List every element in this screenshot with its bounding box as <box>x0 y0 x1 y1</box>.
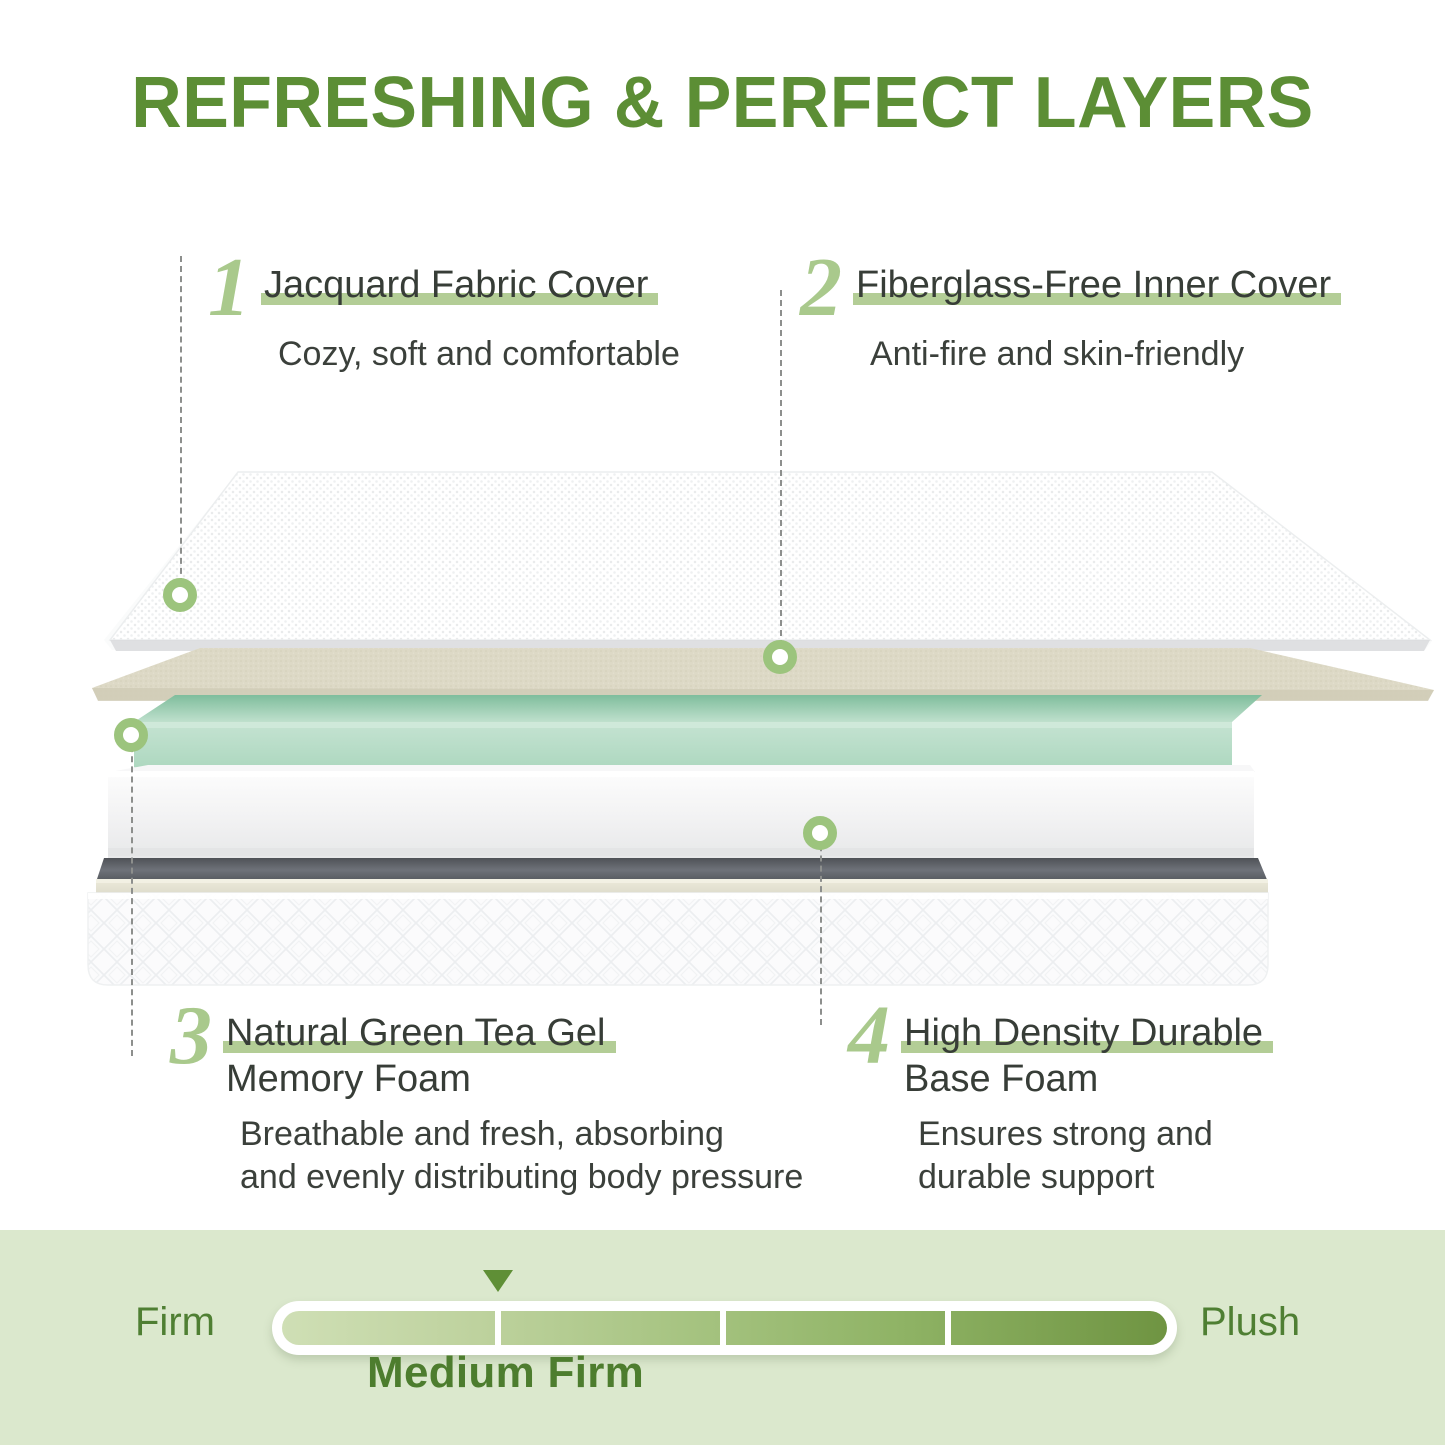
callout-4-description: Ensures strong and durable support <box>918 1113 1263 1200</box>
callout-3-title: Natural Green Tea Gel Memory Foam <box>226 1010 606 1103</box>
firmness-segment-divider-2 <box>720 1311 726 1345</box>
leader-line-1 <box>180 256 182 594</box>
leader-line-3 <box>131 736 133 1056</box>
firmness-marker-triangle-icon <box>483 1270 513 1292</box>
callout-3: 3 Natural Green Tea Gel Memory Foam Brea… <box>170 1000 803 1200</box>
callout-4: 4 High Density Durable Base Foam Ensures… <box>848 1000 1263 1200</box>
callout-marker-4 <box>803 816 837 850</box>
callout-4-number: 4 <box>848 1000 890 1071</box>
base-quilted-cover <box>88 893 1268 985</box>
callout-4-title-line1: High Density Durable <box>904 1010 1263 1056</box>
firmness-segment-divider-1 <box>495 1311 501 1345</box>
callout-2-title-line1: Fiberglass-Free Inner Cover <box>856 262 1331 308</box>
callout-3-title-line2: Memory Foam <box>226 1056 606 1102</box>
callout-3-number: 3 <box>170 1000 212 1071</box>
firmness-scale-bar[interactable] <box>272 1301 1177 1355</box>
callout-2-description: Anti-fire and skin-friendly <box>870 333 1331 377</box>
layer-gel-memory-foam <box>134 695 1262 774</box>
leader-line-4 <box>820 835 822 1025</box>
callout-marker-2 <box>763 640 797 674</box>
mattress-layer-illustration <box>0 0 1445 1445</box>
callout-marker-3 <box>114 718 148 752</box>
page-title: REFRESHING & PERFECT LAYERS <box>22 62 1424 144</box>
callout-1-title-line1: Jacquard Fabric Cover <box>264 262 648 308</box>
callout-4-title-line2: Base Foam <box>904 1056 1263 1102</box>
firmness-scale-gradient <box>282 1311 1167 1345</box>
base-piping-band <box>96 858 1268 896</box>
callout-1-description: Cozy, soft and comfortable <box>278 333 680 377</box>
layer-base-foam <box>108 765 1255 858</box>
callout-2-title: Fiberglass-Free Inner Cover <box>856 262 1331 308</box>
callout-1-title: Jacquard Fabric Cover <box>264 262 648 308</box>
callout-3-description: Breathable and fresh, absorbing and even… <box>240 1113 803 1200</box>
callout-2: 2 Fiberglass-Free Inner Cover Anti-fire … <box>800 252 1331 377</box>
callout-2-number: 2 <box>800 252 842 323</box>
callout-1-number: 1 <box>208 252 250 323</box>
callout-marker-1 <box>163 578 197 612</box>
layer-jacquard-cover <box>104 472 1432 651</box>
callout-1: 1 Jacquard Fabric Cover Cozy, soft and c… <box>208 252 680 377</box>
firmness-segment-divider-3 <box>945 1311 951 1345</box>
callout-4-title: High Density Durable Base Foam <box>904 1010 1263 1103</box>
firmness-selected-label: Medium Firm <box>367 1348 644 1398</box>
firmness-label-plush: Plush <box>1200 1300 1300 1345</box>
firmness-label-firm: Firm <box>135 1300 215 1345</box>
leader-line-2 <box>780 290 782 656</box>
callout-3-title-line1: Natural Green Tea Gel <box>226 1010 606 1056</box>
